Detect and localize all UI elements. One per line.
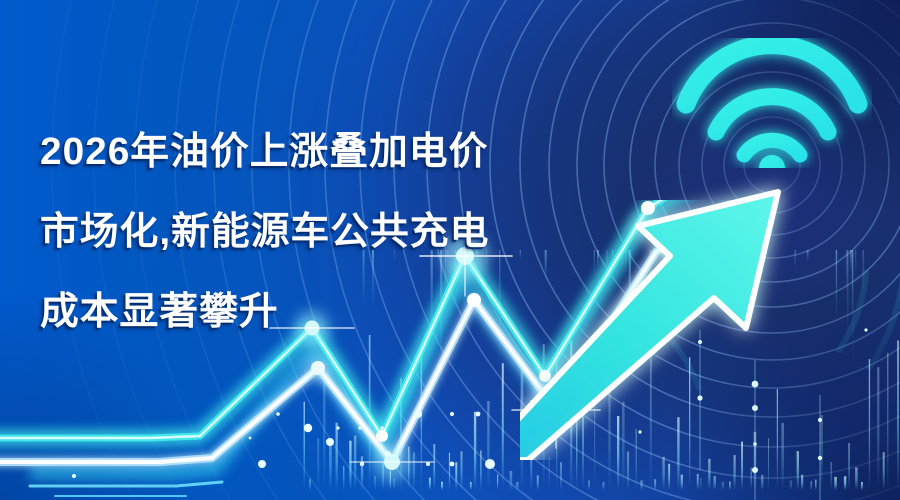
horizontal-light-streaks — [0, 380, 520, 500]
wifi-signal-icon — [672, 38, 872, 168]
up-right-growth-arrow — [520, 130, 860, 460]
title-line-3: 成本显著攀升 — [40, 272, 550, 352]
title-line-1: 2026年油价上涨叠加电价 — [40, 112, 550, 192]
title-line-2: 市场化,新能源车公共充电 — [40, 192, 550, 272]
promo-banner: 2026年油价上涨叠加电价 市场化,新能源车公共充电 成本显著攀升 — [0, 0, 900, 500]
page-title: 2026年油价上涨叠加电价 市场化,新能源车公共充电 成本显著攀升 — [40, 112, 540, 352]
